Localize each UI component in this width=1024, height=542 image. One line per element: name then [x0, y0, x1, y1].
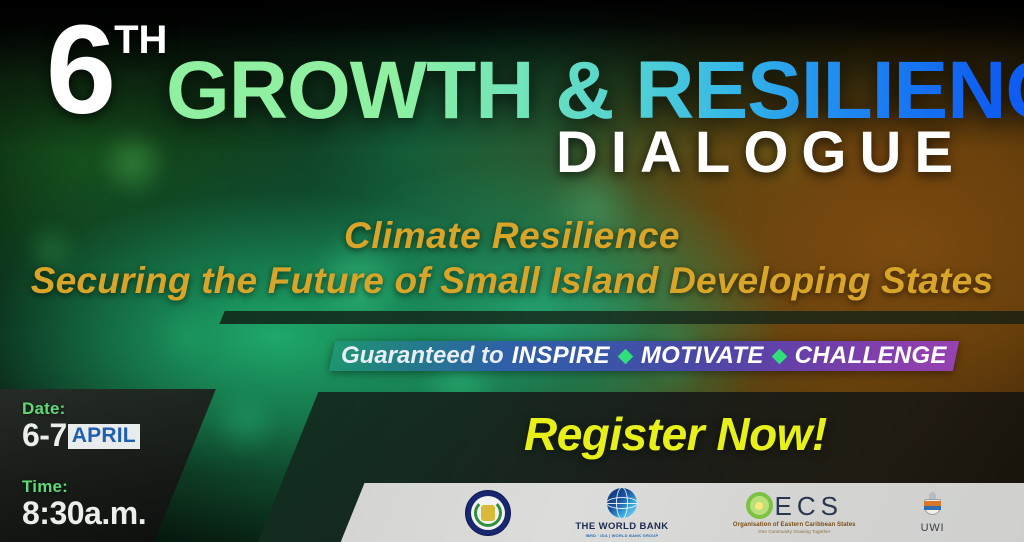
event-title: GROWTH & RESILIENCE — [166, 52, 1024, 131]
time-label: Time: — [22, 476, 212, 497]
date-days: 6-7 — [22, 419, 67, 453]
diamond-separator-icon — [618, 348, 634, 364]
sponsor-logo-row: THE WORLD BANK IBRD · IDA | WORLD BANK G… — [465, 484, 945, 542]
logo-eccb[interactable] — [465, 490, 511, 536]
diamond-separator-icon — [771, 348, 787, 364]
date-value-row: 6-7 APRIL — [22, 419, 212, 453]
event-promo-banner: 6 TH GROWTH & RESILIENCE DIALOGUE Climat… — [0, 0, 1024, 542]
world-bank-name: THE WORLD BANK — [575, 521, 668, 532]
edition-ordinal: 6 TH — [46, 10, 167, 130]
logo-world-bank[interactable]: THE WORLD BANK IBRD · IDA | WORLD BANK G… — [575, 488, 668, 539]
headline-block: 6 TH GROWTH & RESILIENCE DIALOGUE — [46, 8, 1006, 193]
register-now-cta[interactable]: Register Now! — [524, 407, 827, 461]
date-month: APRIL — [68, 424, 140, 449]
edition-suffix: TH — [114, 20, 167, 60]
tagline-word-motivate: MOTIVATE — [641, 342, 764, 370]
logo-ecs[interactable]: ECS Organisation of Eastern Caribbean St… — [733, 492, 856, 534]
time-value: 8:30a.m. — [22, 497, 146, 531]
logo-uwi[interactable]: UWI — [920, 492, 945, 534]
edition-number: 6 — [46, 10, 112, 130]
tagline-ribbon: Guaranteed to INSPIRE MOTIVATE CHALLENGE — [329, 341, 959, 371]
tagline-word-challenge: CHALLENGE — [795, 342, 947, 370]
ecs-subtitle: One Community Growing Together — [758, 529, 830, 534]
world-bank-globe-icon — [607, 488, 637, 518]
tagline-content: Guaranteed to INSPIRE MOTIVATE CHALLENGE — [341, 342, 947, 370]
ecs-wordmark: ECS — [746, 492, 843, 519]
uwi-name: UWI — [921, 522, 945, 534]
ecs-letters: ECS — [775, 493, 843, 519]
separator-bar — [219, 311, 1024, 324]
ecs-sun-icon — [746, 492, 773, 519]
details-spacer — [22, 453, 212, 476]
ecs-name: Organisation of Eastern Caribbean States — [733, 522, 856, 528]
theme-line-1: Climate Resilience — [0, 214, 1024, 258]
event-details: Date: 6-7 APRIL Time: 8:30a.m. — [22, 398, 212, 531]
event-theme: Climate Resilience Securing the Future o… — [0, 214, 1024, 302]
theme-line-2: Securing the Future of Small Island Deve… — [0, 259, 1024, 303]
eccb-seal-icon — [465, 490, 511, 536]
date-label: Date: — [22, 398, 212, 419]
world-bank-subtitle: IBRD · IDA | WORLD BANK GROUP — [586, 533, 659, 538]
tagline-lead: Guaranteed to — [341, 342, 504, 370]
uwi-crest-icon — [920, 492, 945, 520]
event-title-subline: DIALOGUE — [556, 124, 966, 182]
tagline-word-inspire: INSPIRE — [512, 342, 610, 370]
time-value-row: 8:30a.m. — [22, 497, 212, 531]
